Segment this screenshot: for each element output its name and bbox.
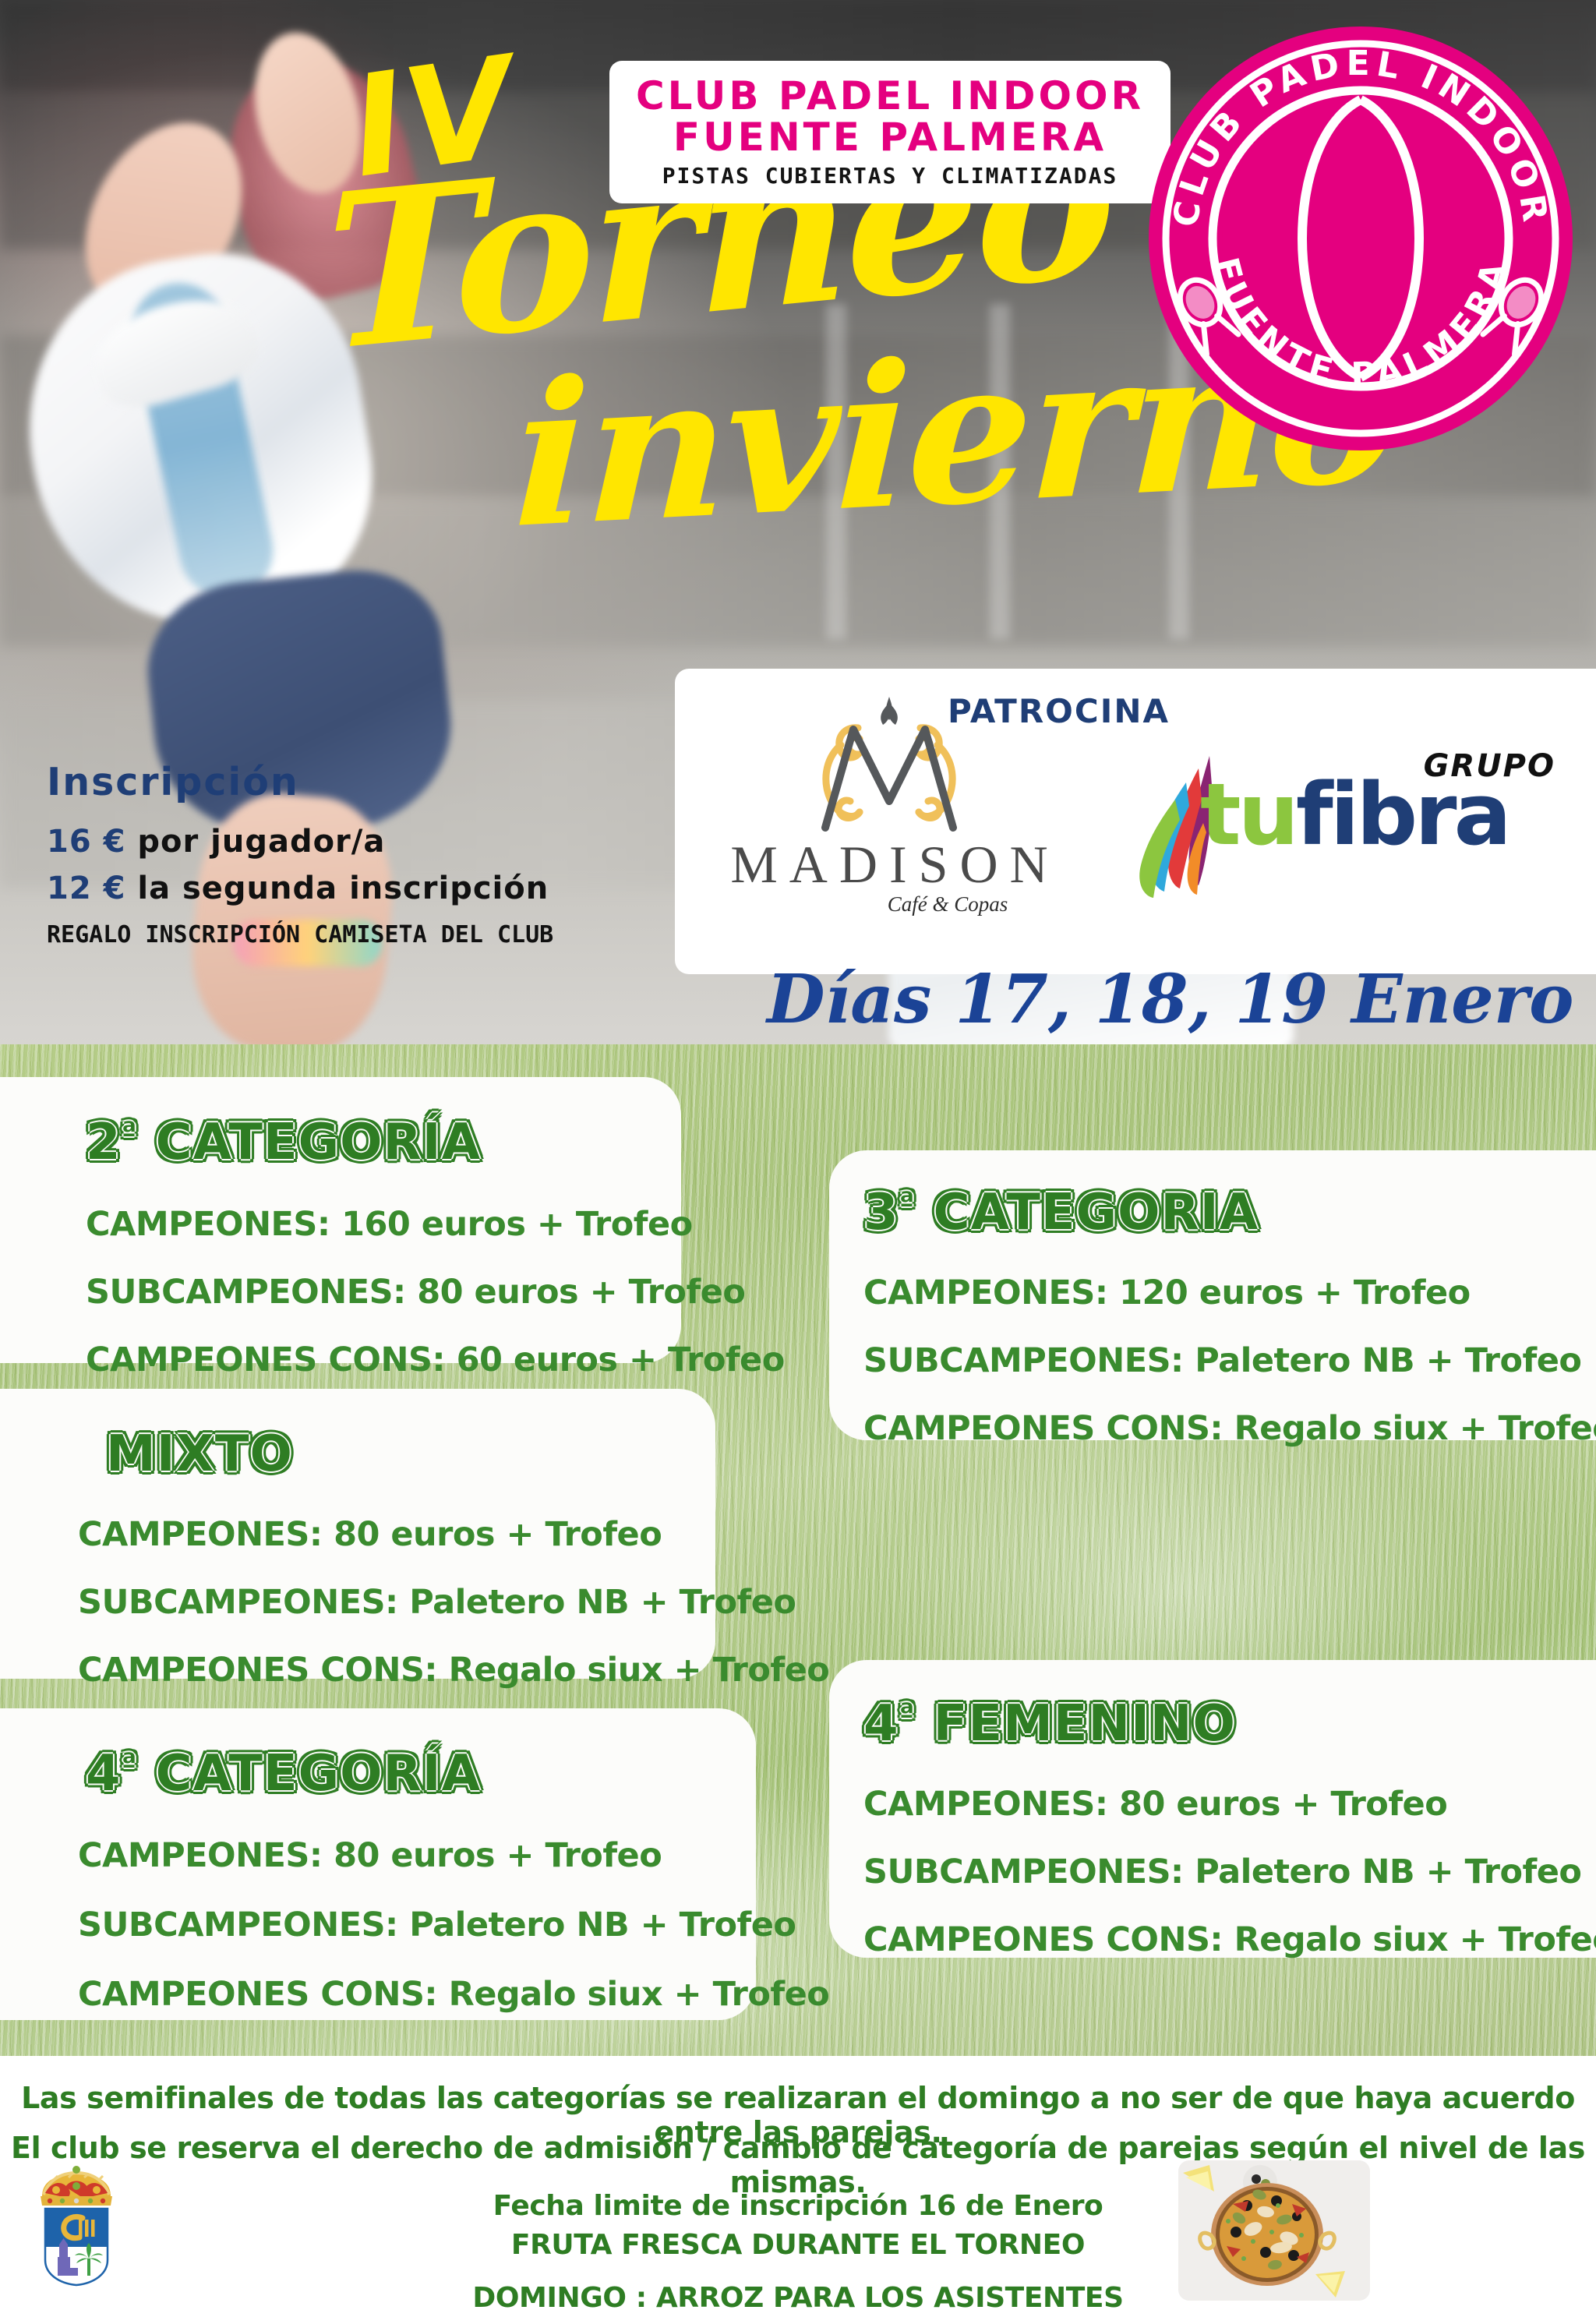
category-title-mixto: MIXTO — [106, 1429, 715, 1479]
inscription-row-1: 16 € por jugador/a — [47, 818, 553, 865]
category-row: CAMPEONES CONS: Regalo siux + Trofeo — [78, 1654, 715, 1687]
inscription-row-2: 12 € la segunda inscripción — [47, 865, 553, 912]
sponsor-tufibra-tu: tu — [1200, 765, 1296, 864]
sponsor-madison-tagline: Café & Copas — [706, 892, 1072, 917]
category-row: CAMPEONES CONS: Regalo siux + Trofeo — [863, 1923, 1596, 1957]
inscription-gift-note: REGALO INSCRIPCIÓN CAMISETA DEL CLUB — [47, 921, 553, 948]
inscription-label-2: la segunda inscripción — [137, 871, 549, 906]
category-row: SUBCAMPEONES: Paletero NB + Trofeo — [78, 1586, 715, 1619]
categories-section: 2ª CATEGORÍA CAMPEONES: 160 euros + Trof… — [0, 1044, 1596, 2056]
category-row: CAMPEONES: 80 euros + Trofeo — [863, 1788, 1596, 1821]
category-row: CAMPEONES CONS: Regalo siux + Trofeo — [863, 1412, 1596, 1446]
category-card-4a[interactable]: 4ª CATEGORÍA CAMPEONES: 80 euros + Trofe… — [0, 1708, 756, 2020]
category-row: SUBCAMPEONES: Paletero NB + Trofeo — [863, 1344, 1596, 1378]
tournament-poster: IV Torneo invierno CLUB PADEL INDOOR FUE… — [0, 0, 1596, 2317]
inscription-title: Inscripción — [47, 760, 553, 804]
category-row: SUBCAMPEONES: Paletero NB + Trofeo — [863, 1856, 1596, 1889]
category-card-4a-femenino[interactable]: 4ª FEMENINO CAMPEONES: 80 euros + Trofeo… — [829, 1660, 1596, 1958]
club-tagline: PISTAS CUBIERTAS Y CLIMATIZADAS — [662, 163, 1118, 189]
category-card-2a[interactable]: 2ª CATEGORÍA CAMPEONES: 160 euros + Trof… — [0, 1077, 681, 1363]
inscription-block: Inscripción 16 € por jugador/a 12 € la s… — [47, 760, 553, 948]
inscription-price-2: 12 € — [47, 871, 125, 906]
club-name-line2: FUENTE PALMERA — [673, 117, 1107, 158]
club-name-line1: CLUB PADEL INDOOR — [636, 76, 1144, 117]
category-row: CAMPEONES: 80 euros + Trofeo — [78, 1839, 756, 1873]
fuente-palmera-coat-of-arms-icon — [22, 2160, 131, 2301]
sponsor-tufibra-name: tufibra — [1200, 772, 1509, 857]
category-title-2a: 2ª CATEGORÍA — [86, 1118, 681, 1167]
category-row: CAMPEONES: 160 euros + Trofeo — [86, 1208, 681, 1242]
sponsor-tufibra-fibra: fibra — [1296, 765, 1509, 864]
tournament-dates: Días 17, 18, 19 Enero — [767, 960, 1574, 1039]
club-logo-badge: CLUB PADEL INDOOR FUENTE PALMERA — [1144, 22, 1577, 455]
category-row: CAMPEONES CONS: Regalo siux + Trofeo — [78, 1978, 756, 2011]
category-title-4a-femenino: 4ª FEMENINO — [863, 1699, 1596, 1749]
inscription-price-1: 16 € — [47, 824, 125, 860]
sponsor-madison: MADISON Café & Copas — [706, 691, 1072, 917]
inscription-label-1: por jugador/a — [137, 824, 385, 860]
category-card-3a[interactable]: 3ª CATEGORIA CAMPEONES: 120 euros + Trof… — [829, 1150, 1596, 1440]
category-title-3a: 3ª CATEGORIA — [863, 1188, 1596, 1238]
paella-photo — [1178, 2160, 1370, 2301]
madison-monogram-icon — [772, 691, 1006, 839]
category-row: CAMPEONES CONS: 60 euros + Trofeo — [86, 1344, 681, 1377]
club-name-card: CLUB PADEL INDOOR FUENTE PALMERA PISTAS … — [609, 61, 1171, 203]
category-row: SUBCAMPEONES: 80 euros + Trofeo — [86, 1276, 681, 1309]
sponsor-madison-name: MADISON — [706, 834, 1072, 895]
sponsors-card: PATROCINA MADISON Café & Copas GRUPO — [675, 669, 1596, 974]
category-row: CAMPEONES: 80 euros + Trofeo — [78, 1518, 715, 1552]
category-title-4a: 4ª CATEGORÍA — [86, 1749, 756, 1799]
category-row: SUBCAMPEONES: Paletero NB + Trofeo — [78, 1909, 756, 1942]
category-card-mixto[interactable]: MIXTO CAMPEONES: 80 euros + Trofeo SUBCA… — [0, 1389, 715, 1679]
category-row: CAMPEONES: 120 euros + Trofeo — [863, 1277, 1596, 1310]
